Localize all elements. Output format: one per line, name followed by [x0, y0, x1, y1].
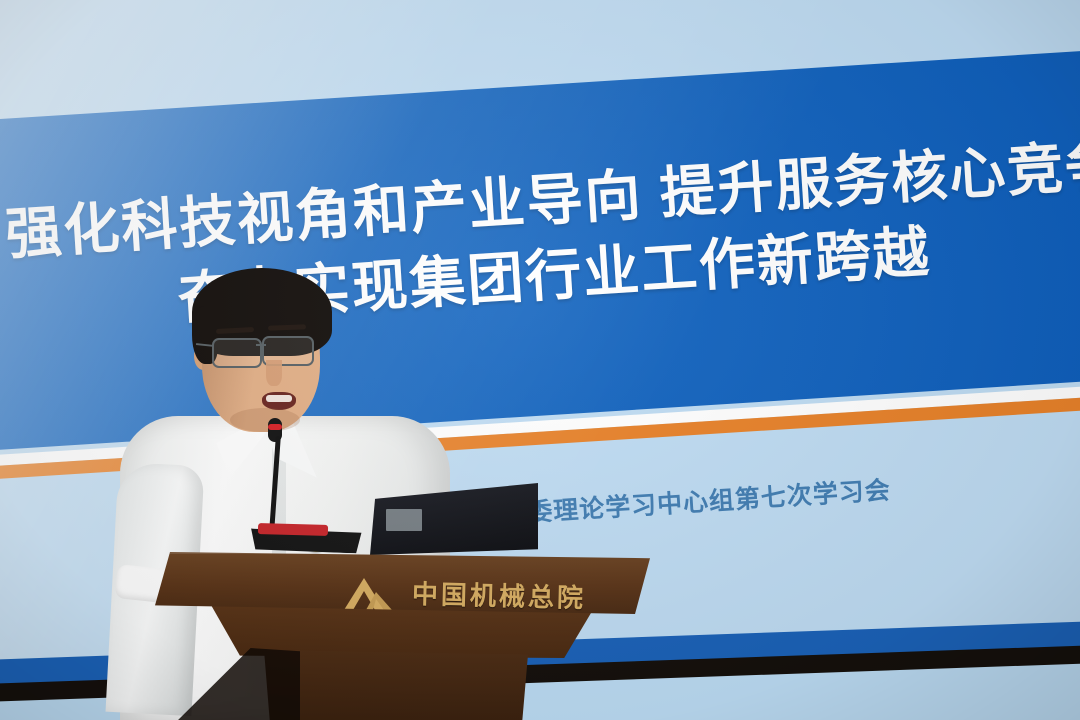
chin-shadow [230, 408, 300, 432]
screen-masthead: 中国机械科学研究总院集团 China Academy of Machinery … [97, 0, 519, 18]
eyeglasses-lens-left [212, 338, 262, 368]
photo-scene: 中国机械科学研究总院集团 China Academy of Machinery … [0, 0, 1080, 720]
podium: 中国机械总院 [150, 548, 650, 720]
mountain-triangle-logo-icon [342, 574, 400, 614]
podium-front-panel: 中国机械总院 [150, 552, 650, 614]
microphone-red-ring [268, 424, 282, 430]
podium-label: 中国机械总院 [412, 574, 587, 615]
microphone-base-accent [258, 523, 328, 536]
eyeglasses-bridge [256, 344, 266, 346]
nose [266, 360, 282, 386]
podium-side-shadow [170, 648, 300, 720]
teeth [266, 395, 292, 402]
laptop-sticker [386, 509, 422, 531]
